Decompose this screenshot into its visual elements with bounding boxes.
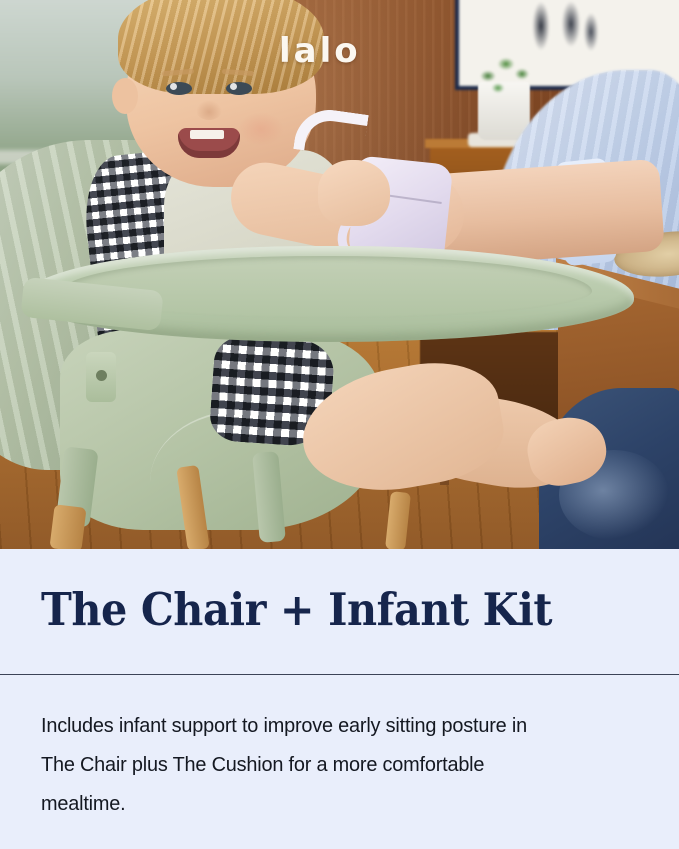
potted-plant-leaves [472,50,544,98]
chair-wooden-foot-left [49,504,86,549]
harness-buckle-button [96,370,107,381]
baby-teeth [190,130,224,139]
product-lifestyle-photo: LALO [0,0,679,549]
baby-eye-highlight-right [230,83,237,90]
baby-eye-highlight-left [170,83,177,90]
section-divider [0,674,679,675]
product-title: The Chair + Infant Kit [41,587,552,632]
product-description: Includes infant support to improve early… [41,707,545,824]
baby-hand [318,160,390,226]
baby-ear [112,78,138,114]
lalo-brand-logo: LALO [279,31,361,71]
baby-cheek [238,112,284,146]
product-info-panel: The Chair + Infant Kit Includes infant s… [0,549,679,849]
baby-nose [196,100,222,120]
